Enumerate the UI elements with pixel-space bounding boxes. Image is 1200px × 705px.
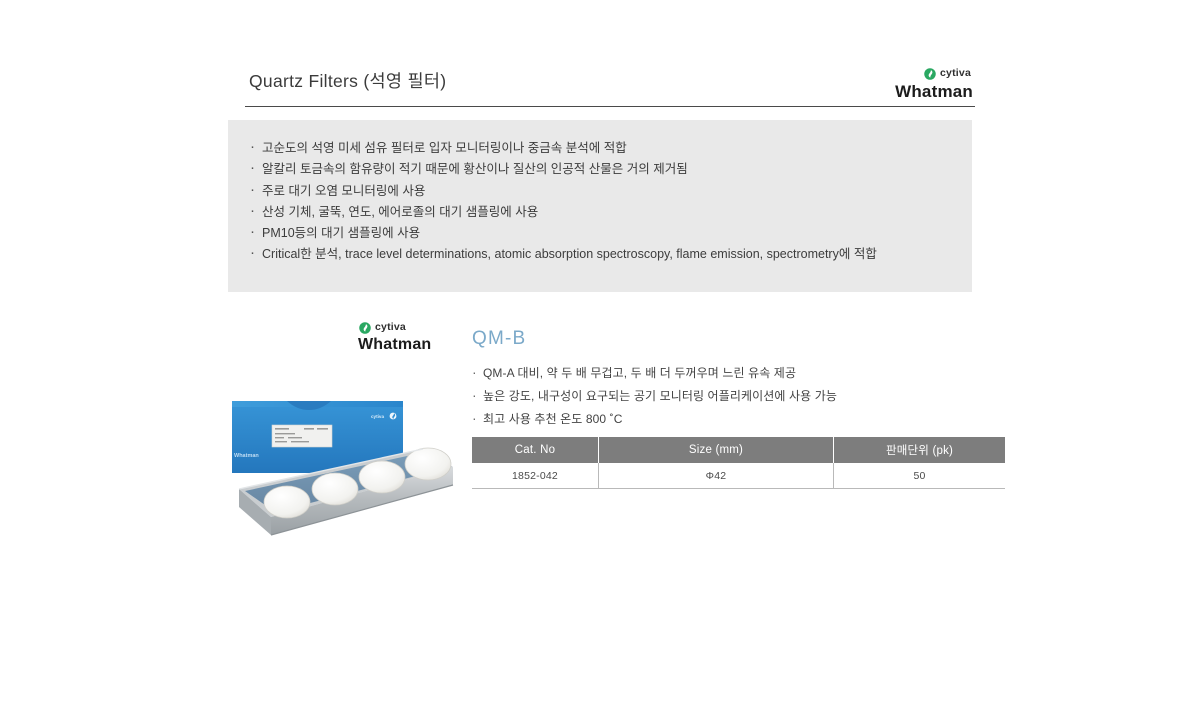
table-row: 1852-042 Φ42 50 — [472, 463, 1005, 489]
svg-text:cytiva: cytiva — [371, 414, 384, 419]
description-panel: 고순도의 석영 미세 섬유 필터로 입자 모니터링이나 중금속 분석에 적합 알… — [228, 120, 972, 292]
description-bullet-list: 고순도의 석영 미세 섬유 필터로 입자 모니터링이나 중금속 분석에 적합 알… — [228, 120, 972, 265]
description-bullet-item: PM10등의 대기 샘플링에 사용 — [250, 223, 912, 244]
product-title: QM-B — [472, 328, 526, 350]
column-header-cat-no: Cat. No — [472, 437, 599, 463]
page-header: Quartz Filters (석영 필터) cytiva Whatman — [245, 62, 975, 107]
header-brand-logo: cytiva Whatman — [895, 66, 973, 102]
product-photo: Whatman cytiva — [225, 385, 465, 555]
product-brand-logo: cytiva Whatman — [358, 320, 431, 354]
cytiva-logo: cytiva — [358, 320, 406, 334]
cytiva-droplet-icon — [359, 321, 371, 333]
product-bullet-item: QM-A 대비, 약 두 배 무겁고, 두 배 더 두꺼우며 느린 유속 제공 — [472, 362, 942, 385]
whatman-wordmark: Whatman — [895, 82, 973, 102]
quartz-filter-disc — [264, 486, 310, 518]
description-bullet-item: 알칼리 토금속의 함유량이 적기 때문에 황산이나 질산의 인공적 산물은 거의… — [250, 159, 912, 180]
whatman-wordmark: Whatman — [358, 336, 431, 354]
description-bullet-item: Critical한 분석, trace level determinations… — [250, 244, 902, 265]
svg-text:Whatman: Whatman — [234, 453, 259, 459]
cytiva-wordmark: cytiva — [375, 322, 406, 333]
cell-cat-no: 1852-042 — [472, 463, 599, 489]
quartz-filter-disc — [312, 473, 358, 505]
quartz-filter-disc — [405, 448, 451, 480]
description-bullet-item: 고순도의 석영 미세 섬유 필터로 입자 모니터링이나 중금속 분석에 적합 — [250, 138, 912, 159]
spec-table: Cat. No Size (mm) 판매단위 (pk) 1852-042 Φ42… — [472, 437, 1005, 489]
quartz-filter-disc — [359, 461, 405, 493]
description-bullet-item: 주로 대기 오염 모니터링에 사용 — [250, 181, 912, 202]
column-header-pack-unit: 판매단위 (pk) — [834, 437, 1006, 463]
product-bullet-item: 최고 사용 추천 온도 800 ˚C — [472, 408, 942, 431]
cell-size: Φ42 — [599, 463, 834, 489]
column-header-size: Size (mm) — [599, 437, 834, 463]
cytiva-wordmark: cytiva — [940, 68, 971, 79]
cytiva-logo: cytiva — [924, 66, 973, 80]
table-header-row: Cat. No Size (mm) 판매단위 (pk) — [472, 437, 1005, 463]
page-title: Quartz Filters (석영 필터) — [249, 68, 446, 93]
description-bullet-item: 산성 기체, 굴뚝, 연도, 에어로졸의 대기 샘플링에 사용 — [250, 202, 912, 223]
cell-pack-unit: 50 — [834, 463, 1006, 489]
cytiva-droplet-icon — [924, 67, 936, 79]
product-bullet-item: 높은 강도, 내구성이 요구되는 공기 모니터링 어플리케이션에 사용 가능 — [472, 385, 942, 408]
product-bullet-list: QM-A 대비, 약 두 배 무겁고, 두 배 더 두꺼우며 느린 유속 제공 … — [472, 362, 942, 431]
